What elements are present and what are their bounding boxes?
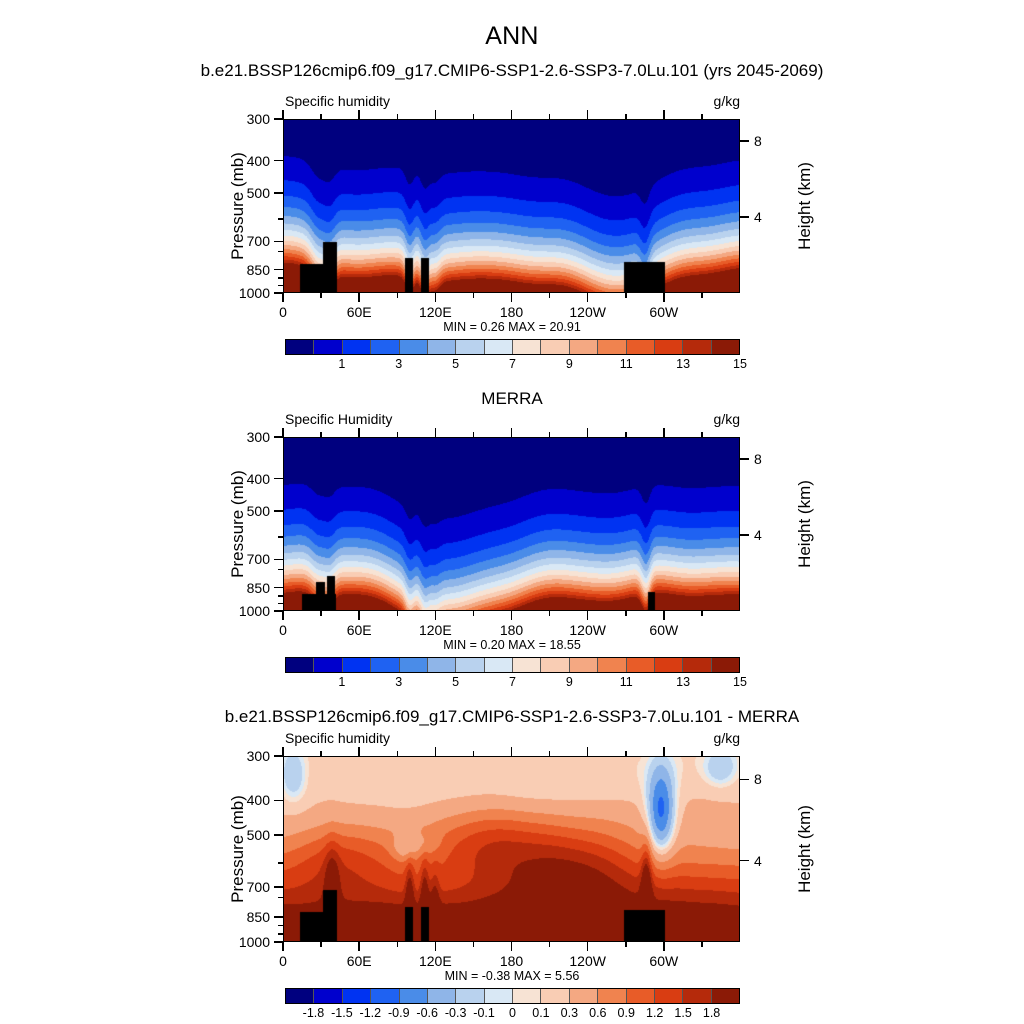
contour-canvas xyxy=(284,757,740,942)
contour-field-diff xyxy=(284,757,739,941)
contour-field-model xyxy=(284,120,739,292)
x-tick xyxy=(587,611,589,620)
colorbar-obs xyxy=(285,657,740,673)
x-tick-top-minor xyxy=(473,751,475,756)
colorbar-model xyxy=(285,339,740,355)
y-tick-label-left: 300 xyxy=(223,429,270,445)
contour-canvas xyxy=(284,438,740,611)
x-tick xyxy=(663,293,665,302)
x-tick-minor xyxy=(625,942,627,947)
colorbar-cell xyxy=(655,340,683,354)
colorbar-tick-label: 1.2 xyxy=(646,1006,663,1020)
colorbar-cell xyxy=(712,340,739,354)
colorbar-cell xyxy=(371,989,399,1003)
colorbar-tick-label: 13 xyxy=(676,357,690,371)
y-tick-left xyxy=(274,559,283,561)
x-tick-top xyxy=(587,428,589,437)
y-tick-label-left: 850 xyxy=(223,262,270,278)
colorbar-cell xyxy=(570,658,598,672)
figure-canvas: ANN b.e21.BSSP126cmip6.f09_g17.CMIP6-SSP… xyxy=(0,0,1024,1024)
x-tick-minor xyxy=(473,293,475,298)
x-tick-top-minor xyxy=(625,114,627,119)
colorbar-tick-label: 5 xyxy=(452,357,459,371)
y-tick-left-minor xyxy=(278,285,283,287)
x-tick-label: 0 xyxy=(279,304,287,320)
x-tick-top-minor xyxy=(397,114,399,119)
y-tick-label-right: 8 xyxy=(754,451,762,467)
x-tick-label: 120E xyxy=(419,622,452,638)
x-tick-minor xyxy=(320,293,322,298)
x-tick-label: 60E xyxy=(347,304,372,320)
x-tick-minor xyxy=(701,942,703,947)
x-tick-top-minor xyxy=(397,432,399,437)
y-axis-title-model-right: Height (km) xyxy=(795,162,815,250)
x-tick-top-minor xyxy=(320,114,322,119)
units-label-obs: g/kg xyxy=(714,411,740,427)
x-tick-label: 180 xyxy=(500,622,523,638)
y-tick-label-right: 8 xyxy=(754,771,762,787)
x-tick xyxy=(663,942,665,951)
colorbar-tick-label: -1.8 xyxy=(303,1006,325,1020)
colorbar-tick-label: 9 xyxy=(566,675,573,689)
x-tick-label: 60W xyxy=(649,953,678,969)
x-tick-minor xyxy=(320,611,322,616)
field-label-obs: Specific Humidity xyxy=(285,411,392,427)
x-tick-top xyxy=(587,110,589,119)
minmax-obs: MIN = 0.20 MAX = 18.55 xyxy=(0,638,1024,652)
x-tick xyxy=(587,942,589,951)
colorbar-labels-diff: -1.8-1.5-1.2-0.9-0.6-0.3-0.100.10.30.60.… xyxy=(285,1006,740,1022)
x-tick-top xyxy=(358,747,360,756)
x-tick-label: 0 xyxy=(279,622,287,638)
x-tick-top-minor xyxy=(397,751,399,756)
x-tick-label: 120E xyxy=(419,953,452,969)
colorbar-cell xyxy=(400,658,428,672)
panel-title-obs: MERRA xyxy=(0,389,1024,409)
x-tick-top-minor xyxy=(701,751,703,756)
x-tick xyxy=(435,942,437,951)
field-label-model: Specific humidity xyxy=(285,93,390,109)
figure-main-title: ANN xyxy=(0,22,1024,51)
y-tick-left xyxy=(274,192,283,194)
colorbar-tick-label: 0.6 xyxy=(589,1006,606,1020)
x-tick-minor xyxy=(397,611,399,616)
y-tick-left xyxy=(274,241,283,243)
y-tick-left-minor xyxy=(278,603,283,605)
y-tick-left-minor xyxy=(278,933,283,935)
colorbar-cell xyxy=(655,658,683,672)
colorbar-cell xyxy=(286,340,314,354)
colorbar-cell xyxy=(683,340,711,354)
x-tick-minor xyxy=(549,942,551,947)
colorbar-tick-label: 11 xyxy=(620,357,633,371)
y-tick-left-minor xyxy=(278,251,283,253)
colorbar-cell xyxy=(428,989,456,1003)
x-tick-top xyxy=(587,747,589,756)
colorbar-cell xyxy=(513,340,541,354)
x-tick-minor xyxy=(473,942,475,947)
colorbar-cell xyxy=(570,340,598,354)
colorbar-tick-label: -0.1 xyxy=(473,1006,495,1020)
colorbar-tick-label: -1.5 xyxy=(331,1006,353,1020)
x-tick-minor xyxy=(625,293,627,298)
contour-canvas xyxy=(284,120,740,293)
colorbar-cell xyxy=(598,989,626,1003)
colorbar-cell xyxy=(485,340,513,354)
colorbar-tick-label: 0.3 xyxy=(561,1006,578,1020)
colorbar-cell xyxy=(456,658,484,672)
y-axis-title-model-left: Pressure (mb) xyxy=(228,152,248,260)
x-tick-minor xyxy=(549,611,551,616)
x-tick-top xyxy=(282,747,284,756)
y-tick-label-right: 4 xyxy=(754,527,762,543)
x-tick-top xyxy=(663,428,665,437)
colorbar-cell xyxy=(400,989,428,1003)
y-tick-right xyxy=(740,534,749,536)
y-tick-left xyxy=(274,478,283,480)
colorbar-labels-model: 13579111315 xyxy=(285,357,740,373)
y-tick-left-minor xyxy=(278,277,283,279)
x-tick-top xyxy=(511,428,513,437)
x-tick-minor xyxy=(397,942,399,947)
y-tick-label-right: 4 xyxy=(754,209,762,225)
colorbar-cell xyxy=(598,658,626,672)
colorbar-cell xyxy=(456,340,484,354)
y-tick-label-right: 4 xyxy=(754,853,762,869)
colorbar-tick-label: 13 xyxy=(676,675,690,689)
colorbar-cell xyxy=(456,989,484,1003)
y-tick-label-left: 1000 xyxy=(223,934,270,950)
x-tick-minor xyxy=(701,611,703,616)
x-tick-top xyxy=(663,110,665,119)
x-tick-top xyxy=(435,428,437,437)
y-tick-right xyxy=(740,140,749,142)
x-tick-label: 120W xyxy=(569,622,606,638)
x-tick-label: 0 xyxy=(279,953,287,969)
plot-area-obs xyxy=(283,437,740,611)
colorbar-tick-label: 1 xyxy=(338,357,345,371)
x-tick xyxy=(663,611,665,620)
colorbar-tick-label: 7 xyxy=(509,675,516,689)
colorbar-diff xyxy=(285,988,740,1004)
x-tick-top-minor xyxy=(320,751,322,756)
colorbar-cell xyxy=(286,989,314,1003)
y-axis-title-obs-left: Pressure (mb) xyxy=(228,470,248,578)
colorbar-cell xyxy=(428,340,456,354)
x-tick xyxy=(435,611,437,620)
colorbar-tick-label: 1.8 xyxy=(703,1006,720,1020)
y-tick-label-left: 850 xyxy=(223,580,270,596)
colorbar-tick-label: 0.9 xyxy=(618,1006,635,1020)
y-tick-left xyxy=(274,800,283,802)
x-tick-top-minor xyxy=(549,432,551,437)
colorbar-tick-label: -0.3 xyxy=(445,1006,467,1020)
panel-title-diff: b.e21.BSSP126cmip6.f09_g17.CMIP6-SSP1-2.… xyxy=(0,707,1024,727)
x-tick-top xyxy=(663,747,665,756)
colorbar-cell xyxy=(627,340,655,354)
x-tick-top-minor xyxy=(473,432,475,437)
x-tick xyxy=(511,293,513,302)
x-tick-top xyxy=(358,110,360,119)
minmax-diff: MIN = -0.38 MAX = 5.56 xyxy=(0,969,1024,983)
y-tick-label-left: 850 xyxy=(223,909,270,925)
colorbar-cell xyxy=(485,989,513,1003)
x-tick-top xyxy=(511,110,513,119)
x-tick-top-minor xyxy=(473,114,475,119)
x-tick-minor xyxy=(397,293,399,298)
y-tick-right xyxy=(740,458,749,460)
minmax-model: MIN = 0.26 MAX = 20.91 xyxy=(0,320,1024,334)
x-tick-top-minor xyxy=(701,114,703,119)
y-tick-right xyxy=(740,216,749,218)
y-axis-title-diff-right: Height (km) xyxy=(795,805,815,893)
colorbar-cell xyxy=(371,340,399,354)
x-tick xyxy=(511,611,513,620)
x-tick-top xyxy=(282,428,284,437)
y-tick-label-left: 300 xyxy=(223,748,270,764)
colorbar-cell xyxy=(541,340,569,354)
colorbar-tick-label: 3 xyxy=(395,357,402,371)
colorbar-tick-label: 0 xyxy=(509,1006,516,1020)
colorbar-cell xyxy=(343,658,371,672)
y-tick-label-left: 300 xyxy=(223,111,270,127)
colorbar-tick-label: -0.6 xyxy=(416,1006,438,1020)
y-tick-left xyxy=(274,916,283,918)
colorbar-tick-label: 1.5 xyxy=(674,1006,691,1020)
colorbar-tick-label: 5 xyxy=(452,675,459,689)
colorbar-cell xyxy=(314,340,342,354)
x-tick-label: 60W xyxy=(649,622,678,638)
colorbar-cell xyxy=(598,340,626,354)
y-tick-left xyxy=(274,160,283,162)
colorbar-cell xyxy=(712,658,739,672)
colorbar-cell xyxy=(343,989,371,1003)
x-tick-label: 120W xyxy=(569,304,606,320)
y-tick-label-left: 1000 xyxy=(223,603,270,619)
panel-title-model: b.e21.BSSP126cmip6.f09_g17.CMIP6-SSP1-2.… xyxy=(0,61,1024,81)
x-tick-minor xyxy=(549,293,551,298)
y-axis-title-obs-right: Height (km) xyxy=(795,480,815,568)
x-tick-top-minor xyxy=(549,751,551,756)
y-tick-right xyxy=(740,779,749,781)
x-tick-minor xyxy=(473,611,475,616)
y-tick-left xyxy=(274,269,283,271)
colorbar-tick-label: 0.1 xyxy=(532,1006,549,1020)
colorbar-cell xyxy=(343,340,371,354)
x-tick-label: 180 xyxy=(500,304,523,320)
x-tick-top-minor xyxy=(320,432,322,437)
x-tick xyxy=(282,611,284,620)
y-tick-left-minor xyxy=(278,569,283,571)
y-tick-left-minor xyxy=(278,925,283,927)
x-tick xyxy=(282,942,284,951)
colorbar-tick-label: -1.2 xyxy=(360,1006,382,1020)
colorbar-cell xyxy=(627,989,655,1003)
contour-field-obs xyxy=(284,438,739,610)
x-tick xyxy=(587,293,589,302)
colorbar-cell xyxy=(513,658,541,672)
x-tick xyxy=(358,293,360,302)
x-tick-top xyxy=(358,428,360,437)
colorbar-tick-label: 1 xyxy=(338,675,345,689)
x-tick-minor xyxy=(625,611,627,616)
y-tick-left xyxy=(274,587,283,589)
x-tick-label: 60W xyxy=(649,304,678,320)
colorbar-cell xyxy=(286,658,314,672)
colorbar-cell xyxy=(655,989,683,1003)
x-tick-minor xyxy=(701,293,703,298)
y-tick-left-minor xyxy=(278,536,283,538)
colorbar-cell xyxy=(570,989,598,1003)
x-tick-label: 180 xyxy=(500,953,523,969)
colorbar-cell xyxy=(371,658,399,672)
colorbar-tick-label: 7 xyxy=(509,357,516,371)
colorbar-cell xyxy=(314,658,342,672)
y-tick-left xyxy=(274,834,283,836)
y-tick-left-minor xyxy=(278,897,283,899)
colorbar-tick-label: 3 xyxy=(395,675,402,689)
x-tick-top xyxy=(435,110,437,119)
colorbar-cell xyxy=(541,658,569,672)
y-tick-left xyxy=(274,886,283,888)
y-tick-label-right: 8 xyxy=(754,133,762,149)
colorbar-tick-label: 11 xyxy=(620,675,633,689)
x-tick-top-minor xyxy=(701,432,703,437)
colorbar-cell xyxy=(400,340,428,354)
colorbar-labels-obs: 13579111315 xyxy=(285,675,740,691)
field-label-diff: Specific humidity xyxy=(285,730,390,746)
x-tick-top xyxy=(511,747,513,756)
x-tick-top-minor xyxy=(625,432,627,437)
x-tick xyxy=(358,942,360,951)
x-tick-label: 120W xyxy=(569,953,606,969)
x-tick xyxy=(358,611,360,620)
y-axis-title-diff-left: Pressure (mb) xyxy=(228,795,248,903)
y-tick-label-left: 1000 xyxy=(223,285,270,301)
colorbar-cell xyxy=(683,658,711,672)
colorbar-tick-label: 15 xyxy=(733,357,747,371)
colorbar-cell xyxy=(428,658,456,672)
colorbar-cell xyxy=(627,658,655,672)
x-tick-top-minor xyxy=(549,114,551,119)
colorbar-cell xyxy=(314,989,342,1003)
x-tick-top xyxy=(435,747,437,756)
colorbar-cell xyxy=(513,989,541,1003)
y-tick-left-minor xyxy=(278,218,283,220)
colorbar-cell xyxy=(683,989,711,1003)
x-tick-label: 60E xyxy=(347,953,372,969)
y-tick-left-minor xyxy=(278,595,283,597)
colorbar-cell xyxy=(541,989,569,1003)
plot-area-model xyxy=(283,119,740,293)
x-tick-minor xyxy=(320,942,322,947)
x-tick xyxy=(511,942,513,951)
plot-area-diff xyxy=(283,756,740,942)
y-tick-right xyxy=(740,860,749,862)
units-label-diff: g/kg xyxy=(714,730,740,746)
x-tick-top xyxy=(282,110,284,119)
y-tick-left xyxy=(274,510,283,512)
x-tick-top-minor xyxy=(625,751,627,756)
colorbar-cell xyxy=(485,658,513,672)
x-tick xyxy=(435,293,437,302)
colorbar-cell xyxy=(712,989,739,1003)
x-tick-label: 60E xyxy=(347,622,372,638)
units-label-model: g/kg xyxy=(714,93,740,109)
colorbar-tick-label: -0.9 xyxy=(388,1006,410,1020)
x-tick xyxy=(282,293,284,302)
colorbar-tick-label: 15 xyxy=(733,675,747,689)
colorbar-tick-label: 9 xyxy=(566,357,573,371)
x-tick-label: 120E xyxy=(419,304,452,320)
y-tick-left-minor xyxy=(278,862,283,864)
